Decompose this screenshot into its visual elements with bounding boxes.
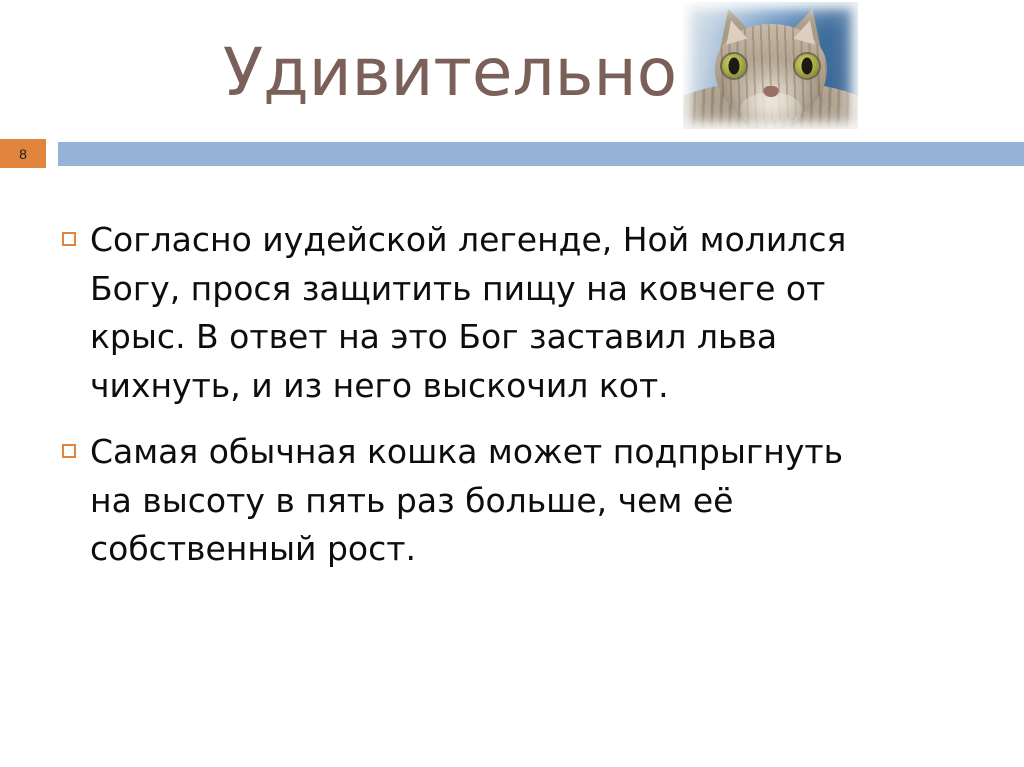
cat-pupil-left <box>729 58 740 75</box>
header-divider-bar <box>58 142 1024 166</box>
slide-body: Согласно иудейской легенде, Ной молился … <box>62 216 962 592</box>
square-bullet-icon <box>62 232 76 246</box>
cat-eye-right <box>795 54 819 78</box>
list-item: Самая обычная кошка может подпрыгнуть на… <box>62 428 962 574</box>
cat-eye-left <box>722 54 746 78</box>
slide-number-label: 8 <box>19 147 27 161</box>
list-item-text: Самая обычная кошка может подпрыгнуть на… <box>90 428 880 574</box>
cat-muzzle <box>740 92 802 128</box>
list-item: Согласно иудейской легенде, Ной молился … <box>62 216 962 410</box>
cat-nose <box>763 86 778 97</box>
presentation-slide: Удивительно 8 Согласно иудейской легенде… <box>0 0 1024 767</box>
page-title: Удивительно <box>223 38 677 107</box>
square-bullet-icon <box>62 444 76 458</box>
slide-number-badge: 8 <box>0 139 46 168</box>
list-item-text: Согласно иудейской легенде, Ной молился … <box>90 216 880 410</box>
cat-pupil-right <box>802 58 813 75</box>
surprised-cat-photo <box>683 2 858 129</box>
